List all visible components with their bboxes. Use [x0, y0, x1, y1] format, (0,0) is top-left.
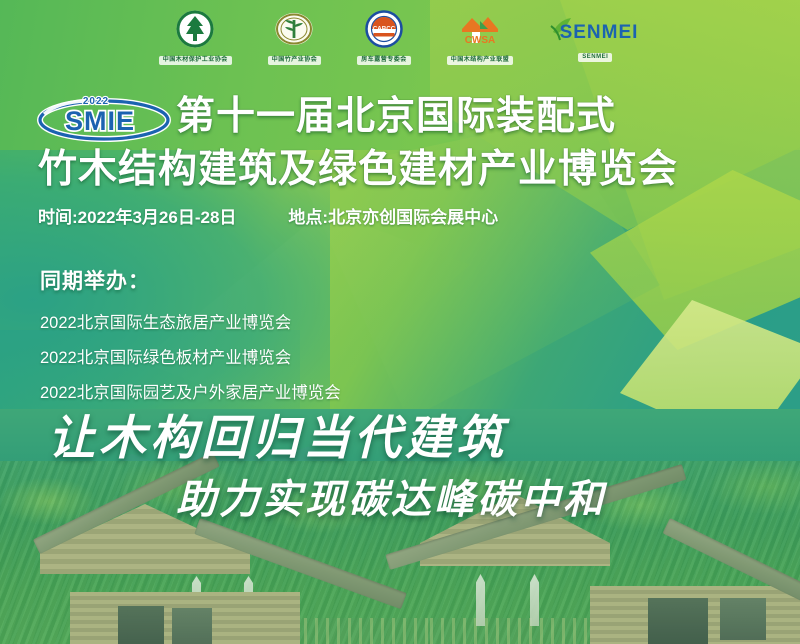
poster-title: 第十一届北京国际装配式 竹木结构建筑及绿色建材产业博览会	[0, 92, 800, 194]
title-line-2: 竹木结构建筑及绿色建材产业博览会	[38, 146, 800, 194]
cabin-right-door	[648, 598, 708, 644]
concurrent-list: 2022北京国际生态旅居产业博览会 2022北京国际绿色板材产业博览会 2022…	[40, 309, 560, 408]
list-item: 2022北京国际生态旅居产业博览会	[40, 309, 560, 338]
sponsor-label: 中国木结构产业联盟	[447, 56, 514, 65]
exhibition-poster: 中国木材保护工业协会 中国竹产业协会	[0, 0, 800, 644]
svg-text:CWSA: CWSA	[465, 35, 496, 46]
cabcc-badge-icon: CABCC	[364, 9, 404, 54]
sponsor-logo-strip: 中国木材保护工业协会 中国竹产业协会	[0, 8, 800, 66]
cabin-left-door	[118, 606, 164, 644]
sponsor-logo-cabcc: CABCC 房车露营专委会	[357, 9, 411, 65]
cabin-left-window	[172, 608, 212, 644]
event-date: 时间:2022年3月26日-28日	[38, 203, 236, 228]
house-roof-icon: CWSA	[458, 9, 502, 54]
slogan-line-2: 助力实现碳达峰碳中和	[176, 472, 800, 528]
poster-slogan: 让木构回归当代建筑 助力实现碳达峰碳中和	[0, 408, 800, 528]
concurrent-events: 同期举办： 2022北京国际生态旅居产业博览会 2022北京国际绿色板材产业博览…	[40, 265, 560, 414]
sponsor-label: 房车露营专委会	[357, 56, 411, 65]
sponsor-logo-china-wood-protection: 中国木材保护工业协会	[159, 9, 232, 65]
senmei-leaf-icon: SENMEI	[549, 12, 641, 51]
title-line-1: 第十一届北京国际装配式	[176, 92, 800, 142]
sponsor-logo-senmei: SENMEI SENMEI	[549, 12, 641, 62]
concurrent-heading: 同期举办：	[40, 265, 560, 295]
svg-text:SENMEI: SENMEI	[560, 22, 639, 43]
bamboo-seal-icon	[274, 9, 314, 54]
tree-shield-icon	[175, 9, 215, 54]
cabin-right-window	[720, 598, 766, 640]
svg-text:CABCC: CABCC	[373, 26, 396, 33]
event-meta: 时间:2022年3月26日-28日 地点:北京亦创国际会展中心	[38, 203, 778, 228]
event-venue: 地点:北京亦创国际会展中心	[288, 203, 498, 228]
sponsor-logo-bamboo-association: 中国竹产业协会	[268, 9, 322, 65]
sponsor-label: 中国木材保护工业协会	[159, 56, 232, 65]
list-item: 2022北京国际园艺及户外家居产业博览会	[40, 379, 560, 408]
sponsor-logo-cwsa: CWSA 中国木结构产业联盟	[447, 9, 514, 65]
sponsor-label: 中国竹产业协会	[268, 56, 322, 65]
list-item: 2022北京国际绿色板材产业博览会	[40, 344, 560, 373]
slogan-line-1: 让木构回归当代建筑	[48, 408, 800, 470]
sponsor-label: SENMEI	[578, 53, 612, 62]
